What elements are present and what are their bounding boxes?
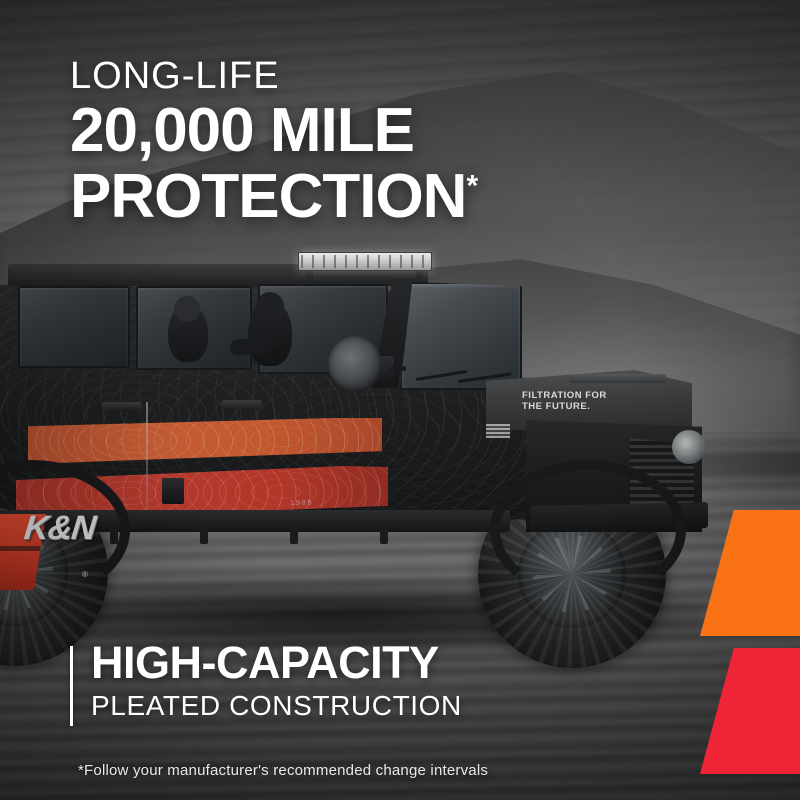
lower-subtitle: PLEATED CONSTRUCTION bbox=[91, 690, 462, 722]
headline-asterisk: * bbox=[466, 169, 477, 202]
headline-line-2-text: PROTECTION bbox=[70, 162, 466, 231]
lower-title: HIGH-CAPACITY bbox=[91, 640, 462, 686]
headline-line-2: PROTECTION* bbox=[70, 166, 710, 228]
headline-block: LONG-LIFE 20,000 MILE PROTECTION* bbox=[70, 56, 710, 228]
lower-text-lines: HIGH-CAPACITY PLEATED CONSTRUCTION bbox=[91, 640, 462, 722]
headline-line-1: 20,000 MILE bbox=[70, 100, 710, 162]
lower-text-block: HIGH-CAPACITY PLEATED CONSTRUCTION bbox=[70, 640, 462, 726]
vertical-rule-divider bbox=[70, 646, 73, 726]
advertisement-banner: FILTRATION FOR THE FUTURE. 1989 K&N ® bbox=[0, 0, 800, 800]
headline-eyebrow: LONG-LIFE bbox=[70, 56, 710, 96]
footnote-disclaimer: *Follow your manufacturer's recommended … bbox=[78, 762, 488, 779]
